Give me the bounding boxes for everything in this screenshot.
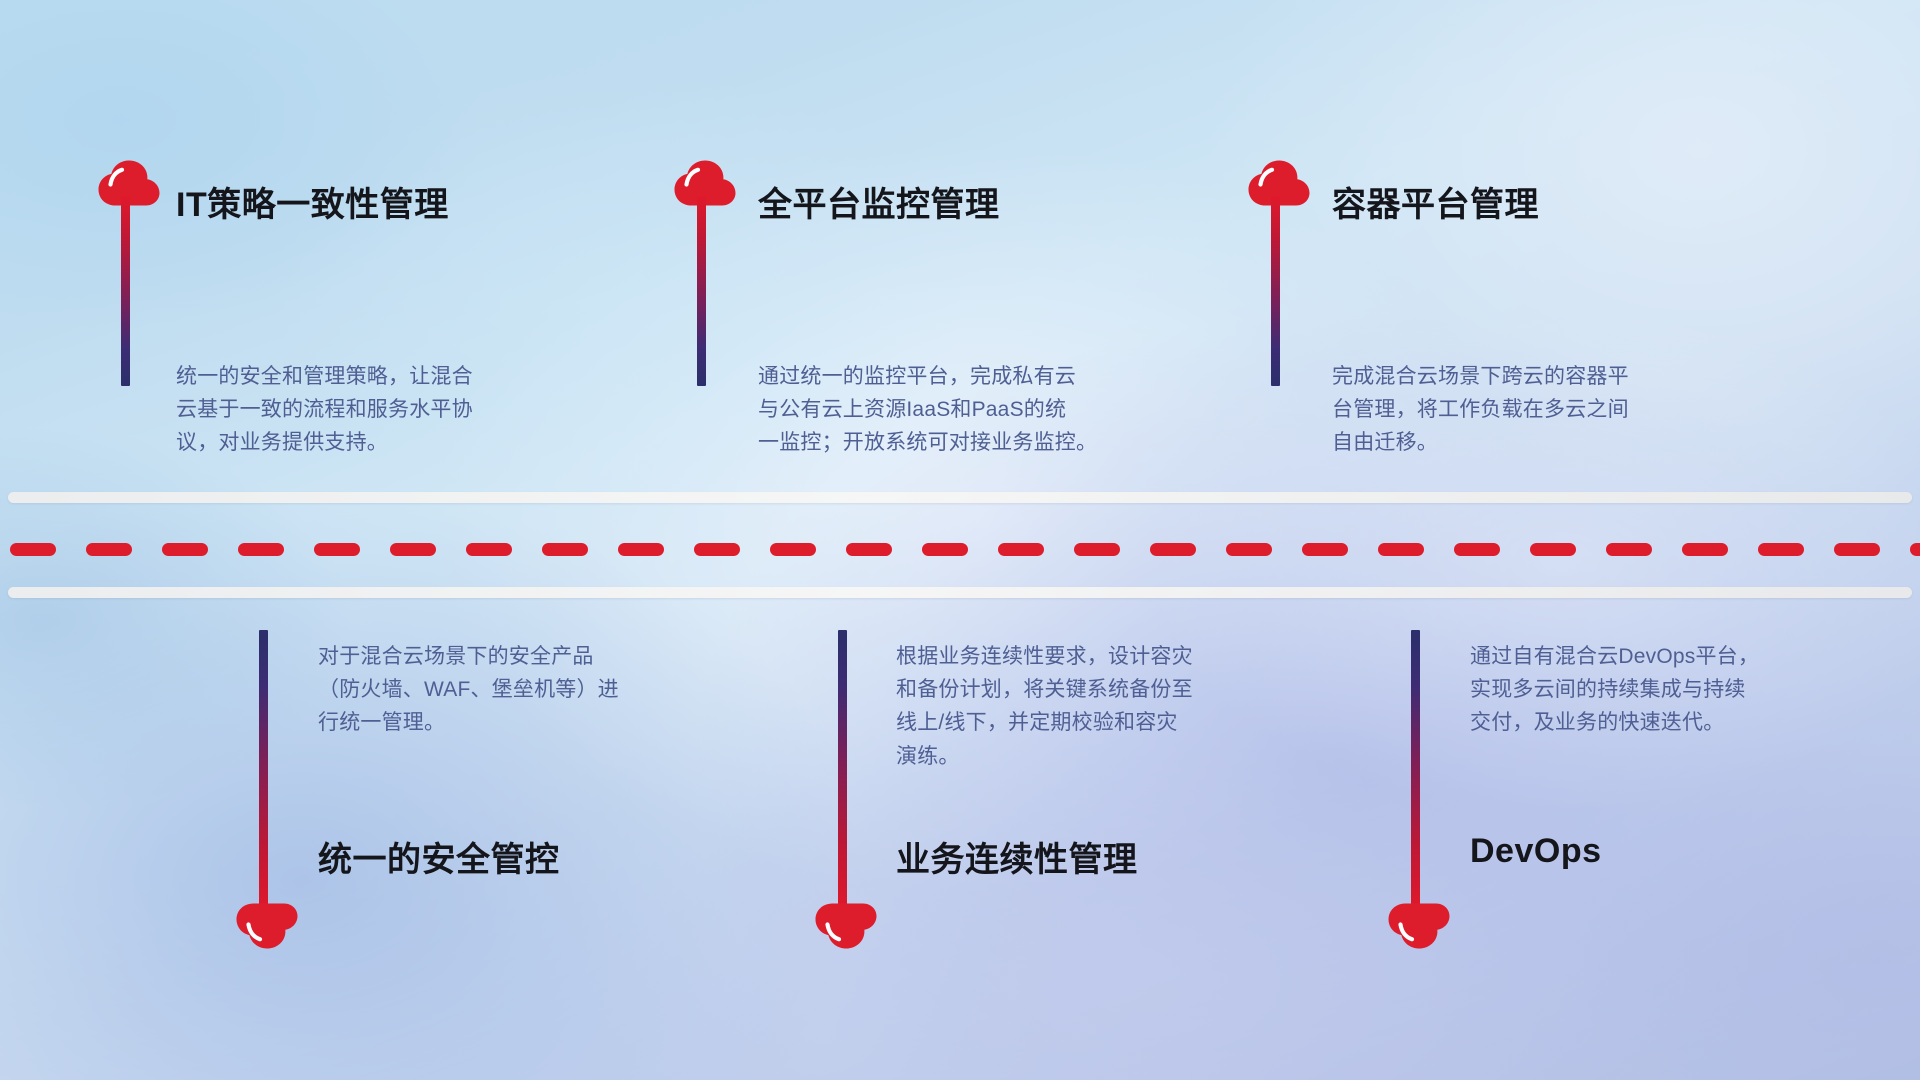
divider-dash [922,543,968,556]
divider-dash [1682,543,1728,556]
bottom-column-1-body: 对于混合云场景下的安全产品 （防火墙、WAF、堡垒机等）进 行统一管理。 [318,640,748,740]
connector-stem [1271,196,1280,386]
divider-dash [694,543,740,556]
top-column-2-body: 通过统一的监控平台，完成私有云 与公有云上资源IaaS和PaaS的统 一监控；开… [758,360,1198,460]
top-column-2-title: 全平台监控管理 [758,177,1000,226]
bottom-column-3-title: DevOps [1470,832,1602,871]
bottom-column-2-body: 根据业务连续性要求，设计容灾 和备份计划，将关键系统备份至 线上/线下，并定期校… [896,640,1326,773]
divider-dash [1378,543,1424,556]
connector-stem [838,630,847,910]
cloud-marker-icon [815,903,877,949]
divider-dash [542,543,588,556]
divider-dash [466,543,512,556]
divider-dash [998,543,1044,556]
divider-rail-top [8,492,1912,503]
top-column-1-body: 统一的安全和管理策略，让混合 云基于一致的流程和服务水平协 议，对业务提供支持。 [176,360,606,460]
infographic-canvas: IT策略一致性管理 统一的安全和管理策略，让混合 云基于一致的流程和服务水平协 … [0,0,1920,1080]
divider-dashed-line [0,543,1920,556]
cloud-marker-icon [1388,903,1450,949]
top-column-3-title: 容器平台管理 [1332,177,1539,226]
cloud-marker-icon [236,903,298,949]
divider-dash [1074,543,1120,556]
divider-dash [1454,543,1500,556]
bottom-column-1-title: 统一的安全管控 [318,832,560,881]
top-column-3-body: 完成混合云场景下跨云的容器平 台管理，将工作负载在多云之间 自由迁移。 [1332,360,1762,460]
divider-dash [1758,543,1804,556]
top-column-1-title: IT策略一致性管理 [176,177,449,226]
divider-dash [770,543,816,556]
divider-dash [390,543,436,556]
divider-dash [238,543,284,556]
divider-dash [846,543,892,556]
connector-stem [1411,630,1420,910]
divider-dash [10,543,56,556]
divider-dash [1226,543,1272,556]
divider-dash [86,543,132,556]
bottom-column-3-body: 通过自有混合云DevOps平台， 实现多云间的持续集成与持续 交付，及业务的快速… [1470,640,1900,740]
divider-dash [1302,543,1348,556]
divider-dash [1530,543,1576,556]
connector-stem [259,630,268,910]
divider-dash [618,543,664,556]
divider-dash [162,543,208,556]
divider-rail-bottom [8,587,1912,598]
divider-dash [314,543,360,556]
divider-dash [1834,543,1880,556]
connector-stem [697,196,706,386]
divider-dash [1150,543,1196,556]
divider-dash [1606,543,1652,556]
connector-stem [121,196,130,386]
divider-dash [1910,543,1920,556]
bottom-column-2-title: 业务连续性管理 [896,832,1138,881]
